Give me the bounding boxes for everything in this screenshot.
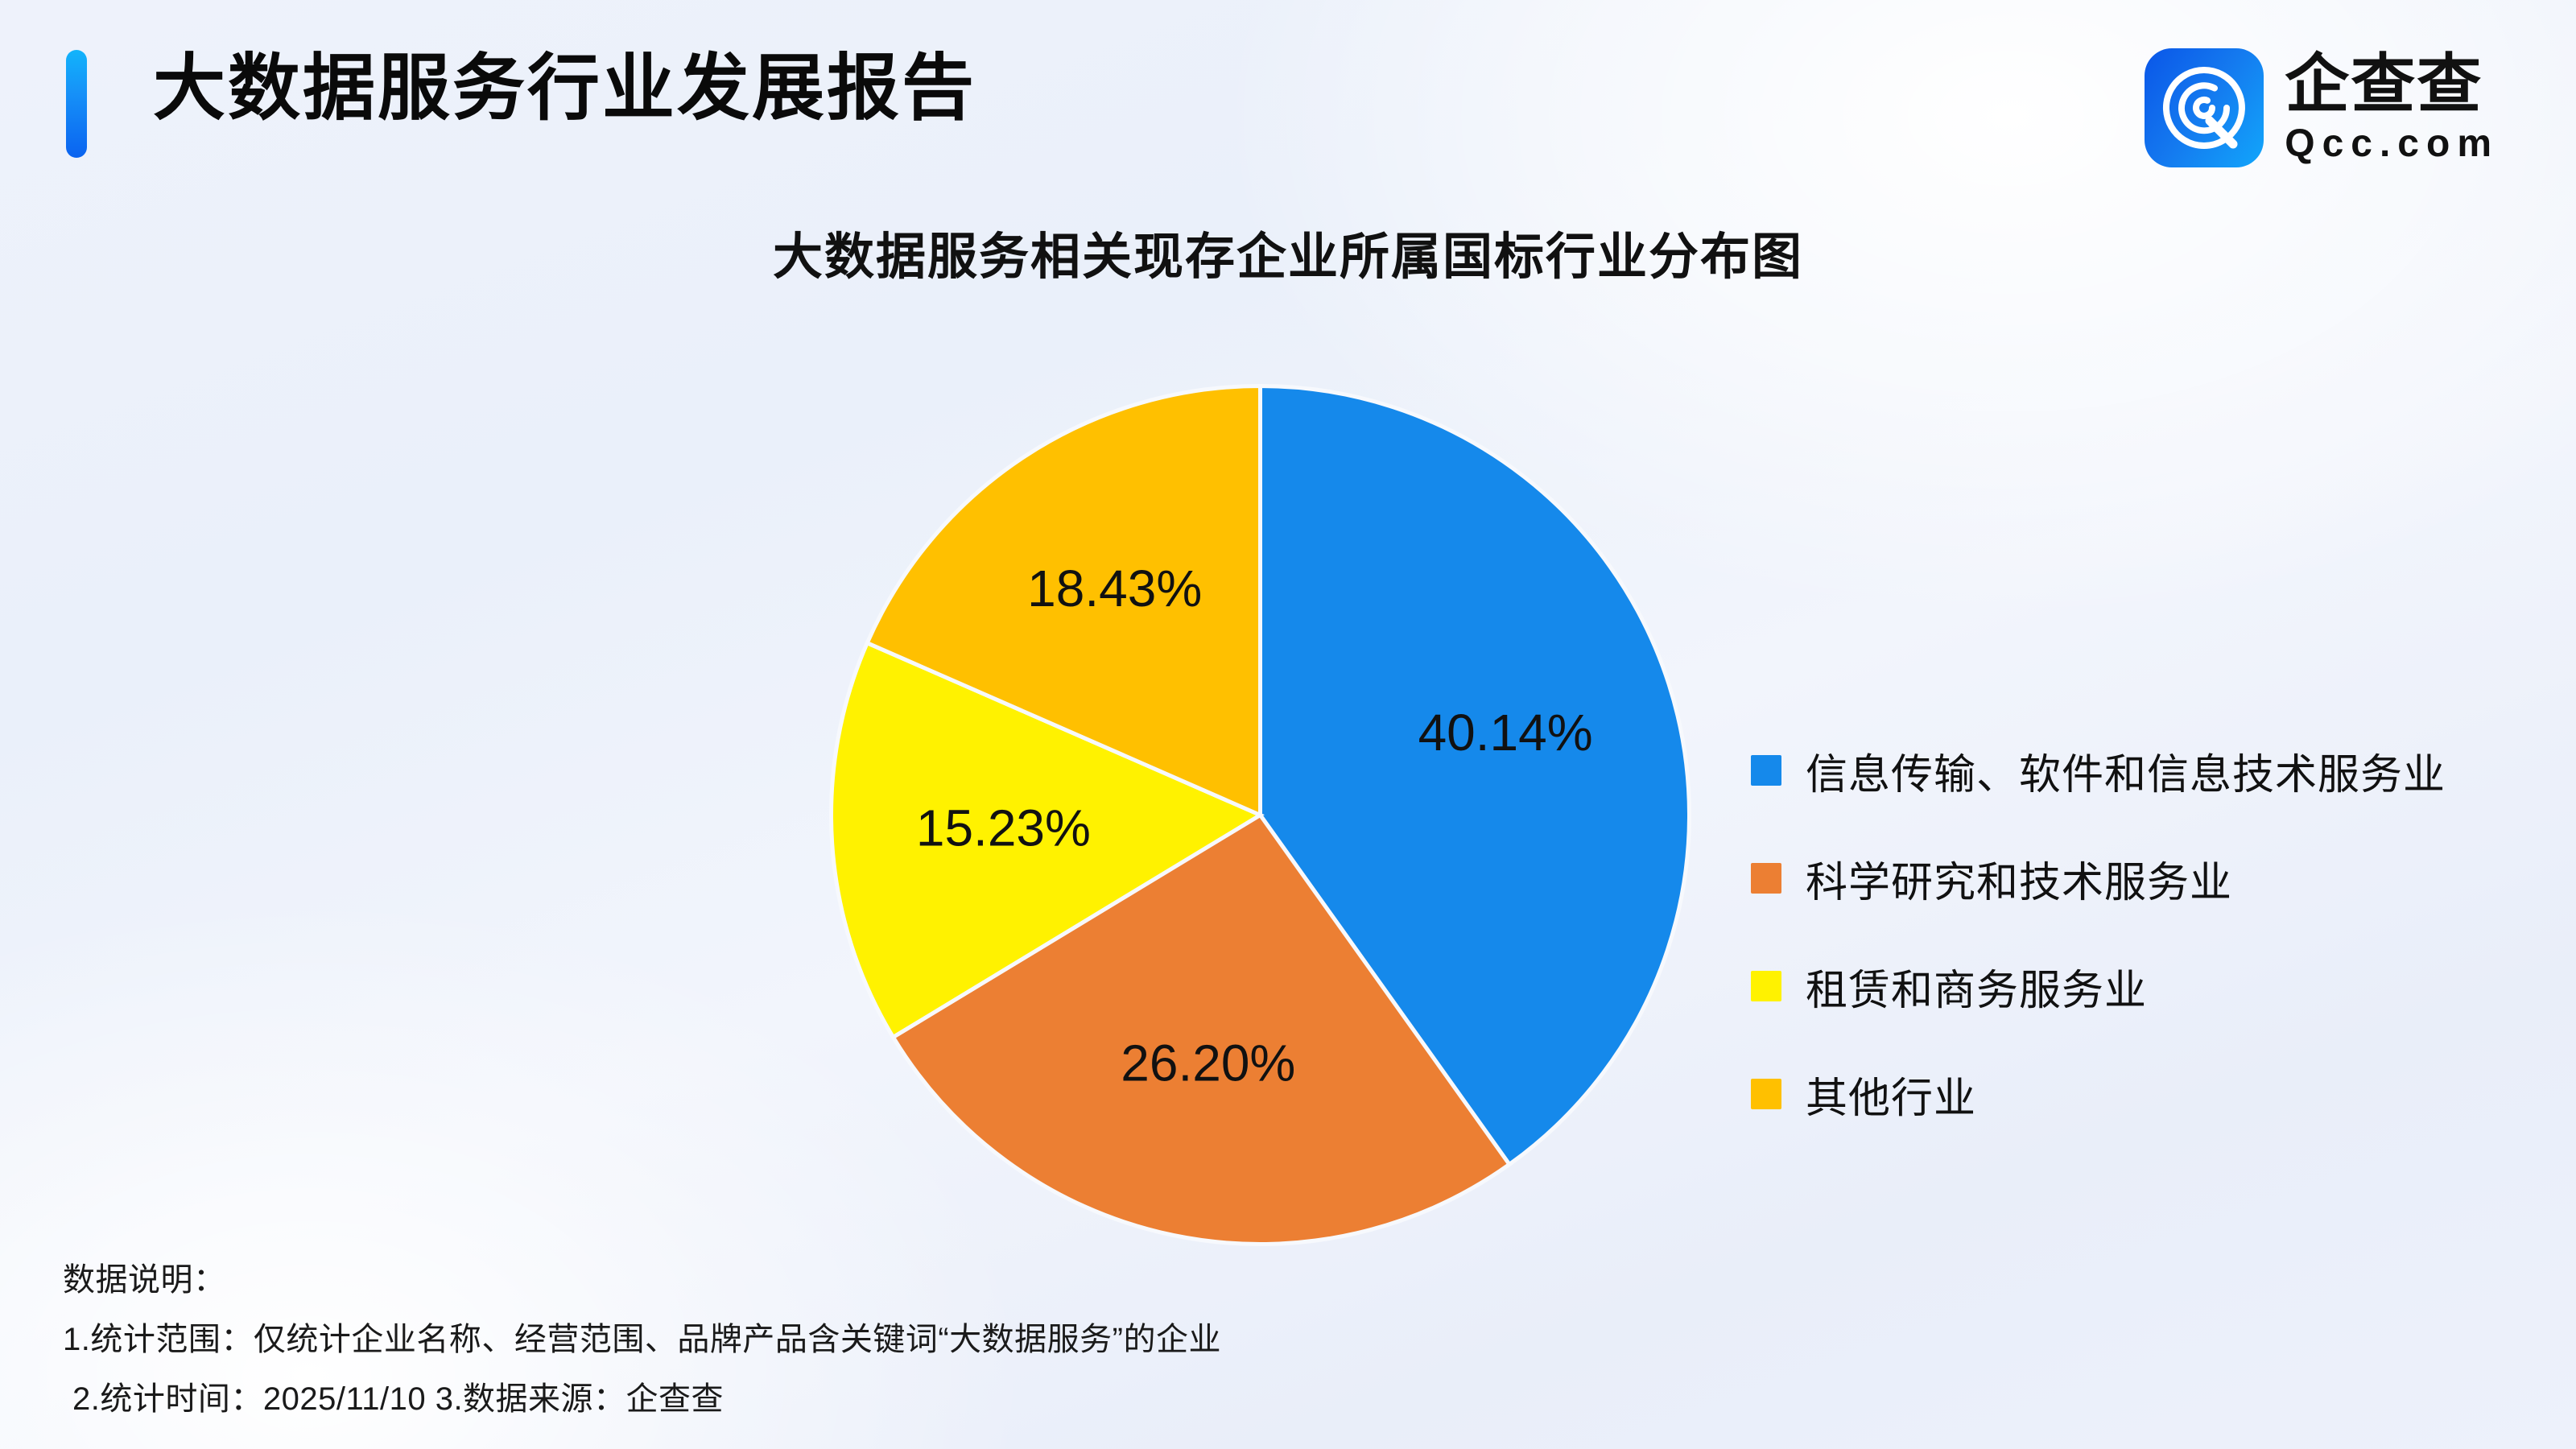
notes-line-1: 1.统计范围：仅统计企业名称、经营范围、品牌产品含关键词“大数据服务”的企业 — [63, 1323, 1834, 1356]
brand-name-cn: 企查查 — [2285, 52, 2499, 117]
qcc-q-logo-icon — [2145, 48, 2264, 167]
legend-swatch-icon — [1751, 971, 1781, 1001]
legend-item[interactable]: 其他行业 — [1751, 1040, 2446, 1148]
pie-chart: 40.14%26.20%15.23%18.43% — [829, 384, 1691, 1246]
pie-slice-value-label: 18.43% — [1027, 559, 1202, 617]
legend-item-label: 科学研究和技术服务业 — [1806, 848, 2232, 909]
pie-chart-svg: 40.14%26.20%15.23%18.43% — [829, 384, 1691, 1246]
data-notes: 数据说明： 1.统计范围：仅统计企业名称、经营范围、品牌产品含关键词“大数据服务… — [63, 1264, 1834, 1415]
brand-logo: 企查查 Qcc.com — [2145, 48, 2499, 167]
legend-swatch-icon — [1751, 1079, 1781, 1109]
chart-legend: 信息传输、软件和信息技术服务业科学研究和技术服务业租赁和商务服务业其他行业 — [1751, 716, 2446, 1148]
brand-wordmark: 企查查 Qcc.com — [2285, 52, 2499, 163]
legend-item[interactable]: 租赁和商务服务业 — [1751, 932, 2446, 1040]
legend-swatch-icon — [1751, 755, 1781, 786]
legend-item[interactable]: 信息传输、软件和信息技术服务业 — [1751, 716, 2446, 824]
title-accent-bar — [66, 50, 87, 158]
legend-item-label: 租赁和商务服务业 — [1806, 956, 2147, 1017]
page-title: 大数据服务行业发展报告 — [153, 40, 976, 138]
legend-item-label: 信息传输、软件和信息技术服务业 — [1806, 741, 2446, 801]
chart-title: 大数据服务相关现存企业所属国标行业分布图 — [0, 216, 2576, 288]
notes-line-2: 2.统计时间：2025/11/10 3.数据来源：企查查 — [63, 1383, 1834, 1415]
pie-slice-value-label: 15.23% — [916, 799, 1091, 857]
legend-swatch-icon — [1751, 863, 1781, 894]
pie-slice-value-label: 26.20% — [1121, 1034, 1295, 1092]
report-canvas: 大数据服务行业发展报告 企查查 Qcc.com 大数据服务相关现存企业所属国标行… — [0, 0, 2576, 1449]
report-header: 大数据服务行业发展报告 企查查 Qcc.com — [0, 0, 2576, 201]
legend-item-label: 其他行业 — [1806, 1064, 1976, 1125]
legend-item[interactable]: 科学研究和技术服务业 — [1751, 824, 2446, 932]
brand-name-en: Qcc.com — [2285, 125, 2499, 163]
pie-slice-value-label: 40.14% — [1418, 704, 1593, 762]
notes-heading: 数据说明： — [63, 1264, 1834, 1296]
